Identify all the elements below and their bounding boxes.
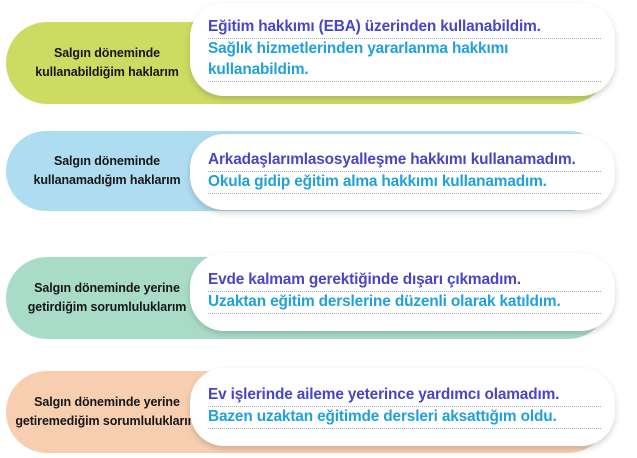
answer-line-1-1[interactable]: Eğitim hakkımı (EBA) üzerinden kullanabi…: [208, 17, 601, 39]
answer-card-3[interactable]: Evde kalmam gerektiğinde dışarı çıkmadım…: [190, 253, 615, 331]
answer-line-1-2[interactable]: Sağlık hizmetlerinden yararlanma hakkımı…: [208, 39, 601, 81]
worksheet-row-yerine-getirdigim-sorumluluklarim: Salgın döneminde yerine getirdiğim sorum…: [0, 233, 637, 351]
answer-line-3-2[interactable]: Uzaktan eğitim derslerine düzenli olarak…: [208, 292, 601, 314]
answer-line-4-2[interactable]: Bazen uzaktan eğitimde dersleri aksattığ…: [208, 407, 601, 429]
answer-card-4[interactable]: Ev işlerinde aileme yeterince yardımcı o…: [190, 368, 615, 446]
answer-line-2-2[interactable]: Okula gidip eğitim alma hakkımı kullanam…: [208, 172, 601, 194]
category-label-3: Salgın döneminde yerine getirdiğim sorum…: [12, 279, 202, 317]
worksheet-row-kullanabildigim-haklarim: Salgın döneminde kullanabildiğim hakları…: [0, 0, 637, 115]
answer-card-2[interactable]: Arkadaşlarımlasosyalleşme hakkımı kullan…: [190, 134, 615, 210]
worksheet: Salgın döneminde kullanabildiğim hakları…: [0, 0, 637, 458]
category-label-1: Salgın döneminde kullanabildiğim hakları…: [12, 44, 202, 82]
category-label-4: Salgın döneminde yerine getiremediğim so…: [12, 393, 202, 431]
worksheet-row-yerine-getiremedigim-sorumluluklarim: Salgın döneminde yerine getiremediğim so…: [0, 351, 637, 458]
answer-line-2-1[interactable]: Arkadaşlarımlasosyalleşme hakkımı kullan…: [208, 150, 601, 172]
worksheet-row-kullanamadigim-haklarim: Salgın döneminde kullanamadığım haklarım…: [0, 115, 637, 233]
category-label-2: Salgın döneminde kullanamadığım haklarım: [12, 152, 202, 190]
answer-line-4-1[interactable]: Ev işlerinde aileme yeterince yardımcı o…: [208, 385, 601, 407]
answer-line-3-1[interactable]: Evde kalmam gerektiğinde dışarı çıkmadım…: [208, 270, 601, 292]
answer-card-1[interactable]: Eğitim hakkımı (EBA) üzerinden kullanabi…: [190, 3, 615, 96]
